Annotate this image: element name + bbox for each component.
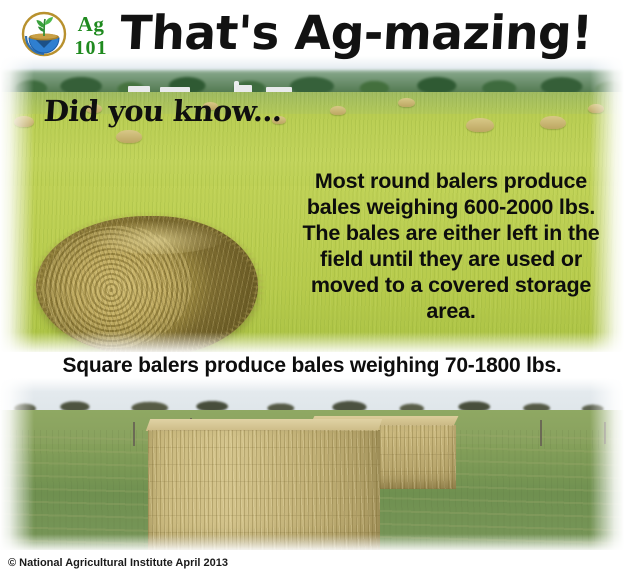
did-you-know-label: Did you know... [43, 94, 283, 128]
distant-round-bale [588, 104, 604, 113]
distant-round-bale [330, 106, 346, 115]
distant-round-bale [398, 98, 415, 107]
fence-post [604, 422, 606, 444]
square-bale-straw-texture [148, 430, 380, 550]
round-baler-fact-text: Most round balers produce bales weighing… [296, 168, 606, 324]
ag101-sprout-globe-logo-icon [20, 10, 68, 58]
fence-post [133, 422, 135, 446]
main-round-hay-bale [36, 216, 258, 356]
page-title: That's Ag-mazing! [118, 2, 616, 66]
bale-loose-straw-fringe [30, 211, 266, 356]
logo-line-ag: Ag [66, 14, 116, 35]
fence-post [540, 420, 542, 446]
distant-round-bale [116, 130, 142, 143]
ag-mazing-poster: Square balers produce bales weighing 70-… [0, 0, 624, 576]
square-bale-front [148, 430, 380, 550]
distant-round-bale [466, 118, 494, 132]
logo-line-101: 101 [66, 38, 116, 58]
distant-round-bale [14, 116, 34, 127]
poster-header: Ag 101 That's Ag-mazing! [0, 0, 624, 72]
distant-round-bale [540, 116, 566, 129]
logo-wordmark: Ag 101 [66, 14, 116, 58]
copyright-notice: © National Agricultural Institute April … [8, 556, 228, 570]
square-baler-fact-text: Square balers produce bales weighing 70-… [0, 354, 624, 378]
